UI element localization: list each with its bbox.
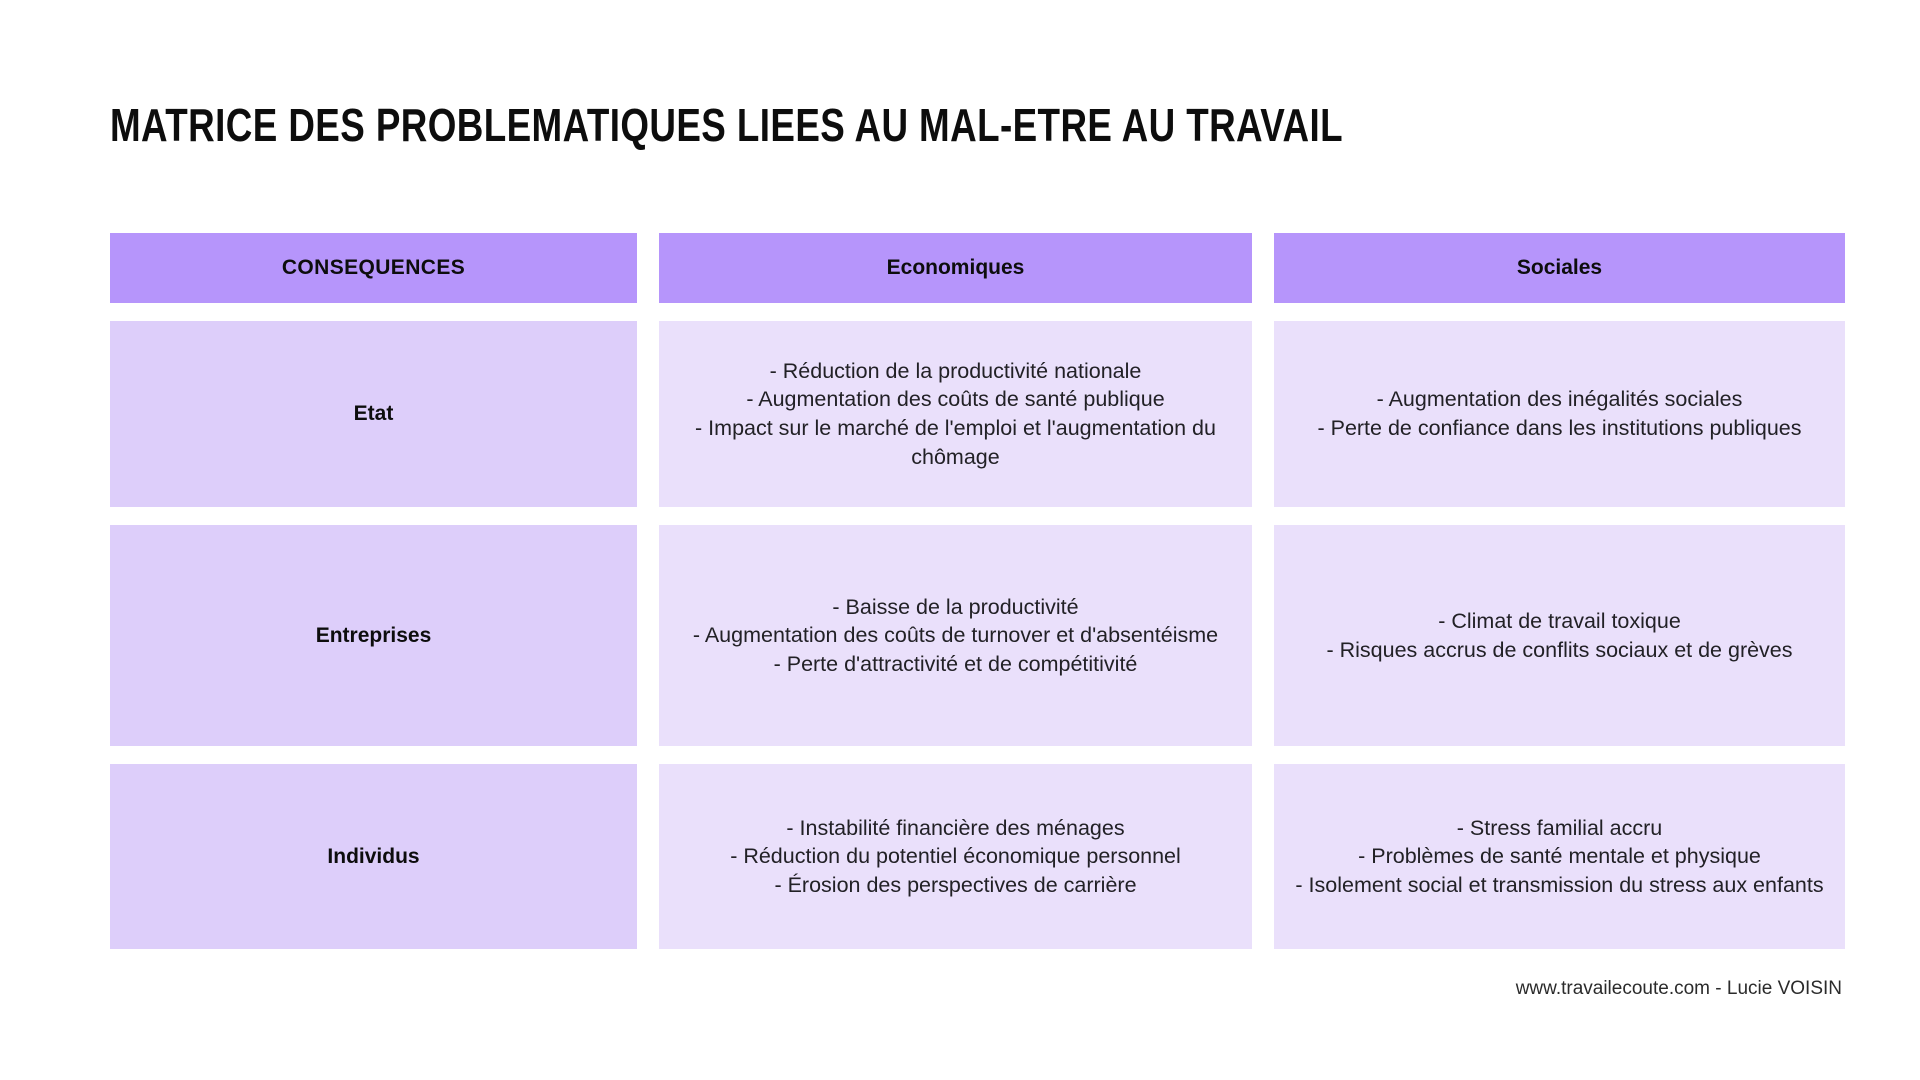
row-label-individus: Individus [110,764,637,949]
cell-entreprises-sociales: - Climat de travail toxique- Risques acc… [1274,525,1845,746]
table-row: Individus - Instabilité financière des m… [110,764,1845,949]
cell-line: - Instabilité financière des ménages [730,814,1181,843]
cell-entreprises-economiques: - Baisse de la productivité- Augmentatio… [659,525,1252,746]
cell-lines: - Stress familial accru- Problèmes de sa… [1295,814,1823,900]
table-row: Entreprises - Baisse de la productivité-… [110,525,1845,746]
cell-line: - Risques accrus de conflits sociaux et … [1326,636,1792,665]
cell-line: - Augmentation des coûts de santé publiq… [673,385,1238,414]
cell-line: - Perte d'attractivité et de compétitivi… [693,650,1218,679]
cell-lines: - Augmentation des inégalités sociales- … [1317,385,1801,442]
column-header-consequences: CONSEQUENCES [110,233,637,303]
matrix-infographic-page: MATRICE DES PROBLEMATIQUES LIEES AU MAL-… [0,0,1920,1080]
cell-line: - Perte de confiance dans les institutio… [1317,414,1801,443]
cell-lines: - Climat de travail toxique- Risques acc… [1326,607,1792,664]
cell-line: - Augmentation des inégalités sociales [1317,385,1801,414]
table-row: Etat - Réduction de la productivité nati… [110,321,1845,507]
cell-line: - Baisse de la productivité [693,593,1218,622]
cell-line: - Problèmes de santé mentale et physique [1295,842,1823,871]
cell-etat-economiques: - Réduction de la productivité nationale… [659,321,1252,507]
cell-individus-economiques: - Instabilité financière des ménages- Ré… [659,764,1252,949]
row-label-entreprises: Entreprises [110,525,637,746]
cell-line: - Augmentation des coûts de turnover et … [693,621,1218,650]
column-header-economiques: Economiques [659,233,1252,303]
cell-individus-sociales: - Stress familial accru- Problèmes de sa… [1274,764,1845,949]
page-title: MATRICE DES PROBLEMATIQUES LIEES AU MAL-… [110,98,1343,152]
cell-lines: - Instabilité financière des ménages- Ré… [730,814,1181,900]
row-label-etat: Etat [110,321,637,507]
table-header-row: CONSEQUENCES Economiques Sociales [110,233,1845,303]
column-header-sociales: Sociales [1274,233,1845,303]
cell-line: - Réduction du potentiel économique pers… [730,842,1181,871]
cell-line: - Stress familial accru [1295,814,1823,843]
cell-line: - Climat de travail toxique [1326,607,1792,636]
consequences-matrix-table: CONSEQUENCES Economiques Sociales Etat -… [110,233,1845,949]
footer-credit: www.travailecoute.com - Lucie VOISIN [1516,978,1842,1000]
cell-lines: - Baisse de la productivité- Augmentatio… [693,593,1218,679]
cell-etat-sociales: - Augmentation des inégalités sociales- … [1274,321,1845,507]
cell-line: - Isolement social et transmission du st… [1295,871,1823,900]
cell-line: - Impact sur le marché de l'emploi et l'… [673,414,1238,471]
cell-line: - Réduction de la productivité nationale [673,357,1238,386]
cell-lines: - Réduction de la productivité nationale… [673,357,1238,471]
cell-line: - Érosion des perspectives de carrière [730,871,1181,900]
